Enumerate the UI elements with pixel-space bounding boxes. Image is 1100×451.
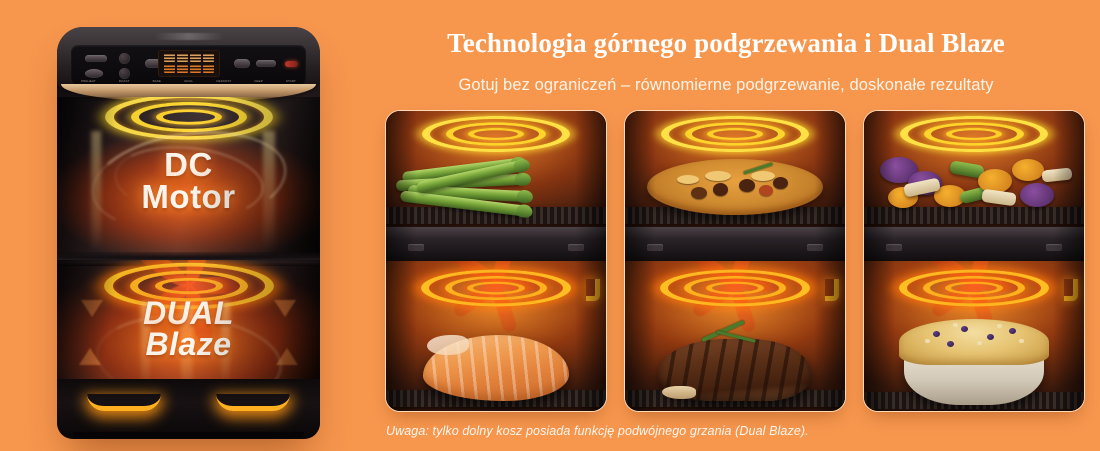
- temp-down-knob[interactable]: [119, 68, 130, 79]
- control-panel: PREHEAT ROAST BAKE GRILL DEFROST KEEP ST…: [71, 45, 306, 85]
- control-panel-shell: PREHEAT ROAST BAKE GRILL DEFROST KEEP ST…: [57, 27, 320, 89]
- footnote: Uwaga: tylko dolny kosz posiada funkcję …: [386, 424, 809, 438]
- timer-button[interactable]: [234, 59, 250, 68]
- body-sheen: [57, 97, 320, 260]
- status-led: [285, 61, 298, 67]
- panel-2-lower-compartment: [625, 261, 845, 412]
- panel-1-lower-compartment: [386, 261, 606, 412]
- appliance-base: [57, 379, 320, 439]
- subtitle: Gotuj bez ograniczeń – równomierne podgr…: [370, 76, 1082, 95]
- panel-3-lower-compartment: [864, 261, 1084, 412]
- food-panel-3: [863, 110, 1085, 412]
- button-label-start: START: [286, 79, 296, 83]
- brand-logo: [154, 33, 224, 40]
- food-panel-1: [385, 110, 607, 412]
- display-readout-bottom: [162, 65, 216, 73]
- panel-2-upper-compartment: [625, 111, 845, 261]
- air-fryer-body: PREHEAT ROAST BAKE GRILL DEFROST KEEP ST…: [57, 27, 320, 439]
- button-label-preheat: PREHEAT: [81, 79, 96, 83]
- food-panel-2: [624, 110, 846, 412]
- digital-display: [158, 50, 220, 77]
- mode-button[interactable]: [85, 55, 107, 62]
- product-illustration: PREHEAT ROAST BAKE GRILL DEFROST KEEP ST…: [0, 0, 370, 451]
- button-label-keep: KEEP: [254, 79, 262, 83]
- panel-3-upper-compartment: [864, 111, 1084, 261]
- base-glow-slot: [87, 394, 161, 411]
- copy-area: Technologia górnego podgrzewania i Dual …: [370, 0, 1100, 451]
- display-readout-top: [162, 54, 216, 62]
- button-label-defrost: DEFROST: [216, 79, 231, 83]
- button-label-roast: ROAST: [119, 79, 130, 83]
- base-glow-slot: [216, 394, 290, 411]
- food-panel-group: [385, 110, 1085, 412]
- upper-basket: DC Motor: [57, 97, 320, 260]
- temp-up-knob[interactable]: [119, 53, 130, 64]
- page-title: Technologia górnego podgrzewania i Dual …: [370, 28, 1082, 59]
- control-button-labels: PREHEAT ROAST BAKE GRILL DEFROST KEEP ST…: [81, 79, 296, 83]
- panel-1-upper-compartment: [386, 111, 606, 261]
- power-button[interactable]: [85, 69, 103, 78]
- button-label-grill: GRILL: [184, 79, 193, 83]
- appliance-feet: [73, 432, 304, 438]
- start-button[interactable]: [256, 60, 276, 67]
- button-label-bake: BAKE: [153, 79, 161, 83]
- promo-banner: PREHEAT ROAST BAKE GRILL DEFROST KEEP ST…: [0, 0, 1100, 451]
